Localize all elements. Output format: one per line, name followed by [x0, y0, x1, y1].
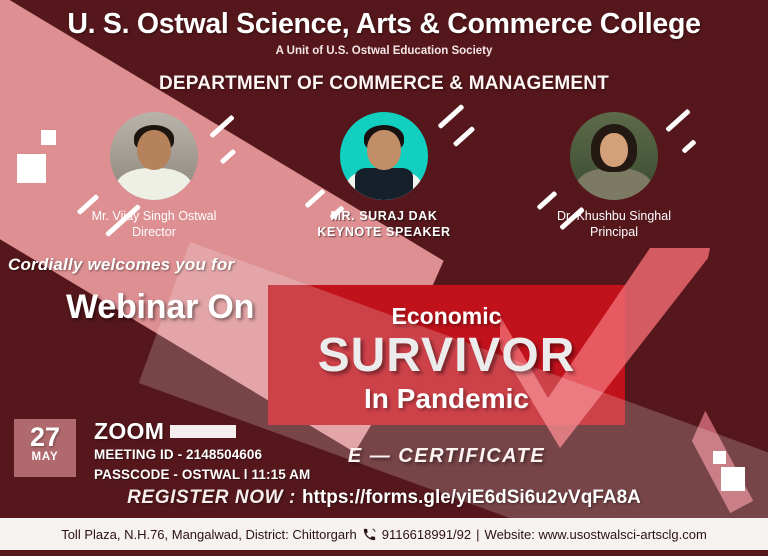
headline-line-survivor: SURVIVOR — [268, 332, 625, 381]
speaker-role: KEYNOTE SPEAKER — [309, 225, 459, 241]
tick-mark-icon — [453, 126, 476, 147]
speaker-card-principal: Dr. Khushbu Singhal Principal — [539, 112, 689, 240]
speaker-name: Mr. Vijay Singh Ostwal — [79, 209, 229, 225]
footer-address: Toll Plaza, N.H.76, Mangalwad, District:… — [61, 527, 357, 542]
avatar — [110, 112, 198, 200]
zoom-logo-bar — [170, 425, 236, 438]
tick-mark-icon — [209, 115, 235, 139]
college-name: U. S. Ostwal Science, Arts & Commerce Co… — [0, 8, 768, 41]
speakers-row: Mr. Vijay Singh Ostwal Director MR. SURA… — [0, 112, 768, 240]
footer-phone: 9116618991/92 — [382, 527, 471, 542]
passcode-and-time: PASSCODE - OSTWAL l 11:15 AM — [94, 465, 310, 485]
phone-icon — [362, 527, 377, 542]
footer-website: Website: www.usostwalsci-artsclg.com — [485, 527, 707, 542]
speaker-role: Director — [79, 225, 229, 241]
headline-line-in-pandemic: In Pandemic — [268, 383, 625, 415]
tick-mark-icon — [681, 139, 696, 153]
date-badge: 27 MAY — [14, 419, 76, 477]
zoom-label: ZOOM — [94, 418, 164, 445]
tick-mark-icon — [220, 149, 237, 165]
speaker-card-director: Mr. Vijay Singh Ostwal Director — [79, 112, 229, 240]
zoom-details: ZOOM MEETING ID - 2148504606 PASSCODE - … — [94, 418, 310, 486]
meeting-id: MEETING ID - 2148504606 — [94, 445, 310, 465]
avatar — [340, 112, 428, 200]
footer-separator: | — [476, 527, 479, 542]
tick-mark-icon — [536, 191, 557, 211]
webinar-poster: U. S. Ostwal Science, Arts & Commerce Co… — [0, 0, 768, 556]
department-title: DEPARTMENT OF COMMERCE & MANAGEMENT — [0, 73, 768, 95]
avatar — [570, 112, 658, 200]
poster-header: U. S. Ostwal Science, Arts & Commerce Co… — [0, 8, 768, 95]
decorative-square-right-small — [713, 451, 726, 464]
tick-mark-icon — [437, 104, 464, 129]
webinar-on-label: Webinar On — [66, 288, 254, 327]
tick-mark-icon — [665, 109, 691, 133]
e-certificate-label: E — CERTIFICATE — [268, 445, 625, 468]
date-day: 27 — [14, 423, 76, 451]
register-label: REGISTER NOW : — [127, 487, 296, 508]
society-unit-line: A Unit of U.S. Ostwal Education Society — [0, 45, 768, 57]
headline-line-economic: Economic — [268, 303, 625, 330]
speaker-card-keynote: MR. SURAJ DAK KEYNOTE SPEAKER — [309, 112, 459, 240]
cordial-welcome-line: Cordially welcomes you for — [8, 255, 234, 275]
zoom-platform-row: ZOOM — [94, 418, 310, 445]
date-month: MAY — [14, 451, 76, 463]
footer-bar: Toll Plaza, N.H.76, Mangalwad, District:… — [0, 518, 768, 556]
tick-mark-icon — [304, 189, 325, 209]
speaker-name: Dr. Khushbu Singhal — [539, 209, 689, 225]
register-row[interactable]: REGISTER NOW :https://forms.gle/yiE6dSi6… — [0, 487, 768, 509]
headline-group: Economic SURVIVOR In Pandemic — [268, 303, 625, 415]
register-link[interactable]: https://forms.gle/yiE6dSi6u2vVqFA8A — [302, 487, 641, 508]
